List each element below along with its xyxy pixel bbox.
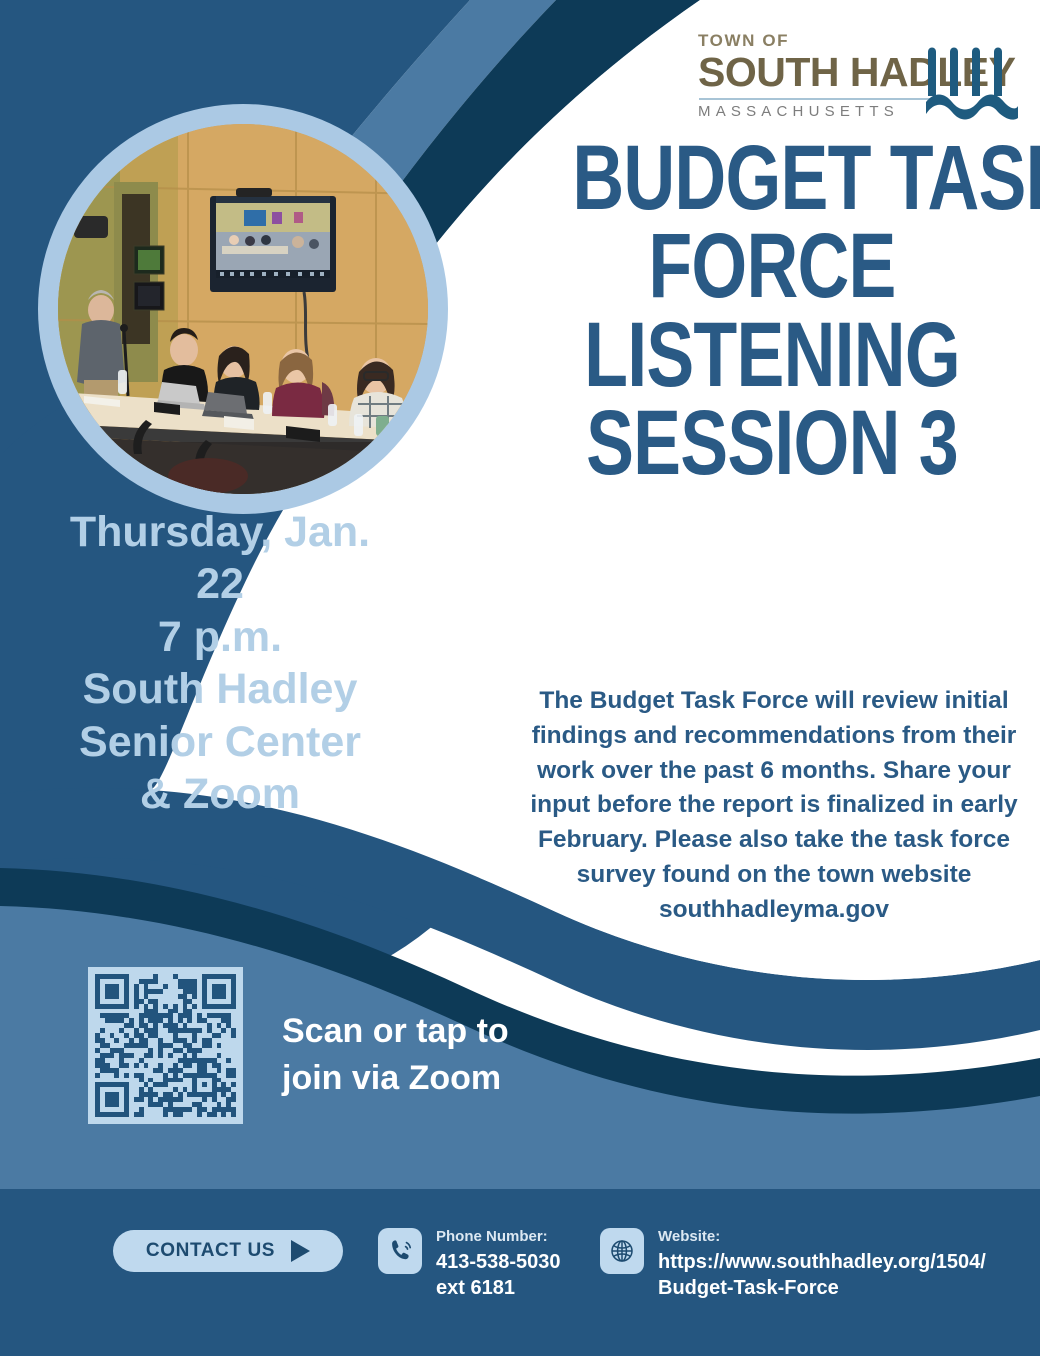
page-title-line-2: FORCE — [572, 222, 971, 310]
logo-divider — [699, 98, 935, 100]
website-label: Website: — [658, 1228, 986, 1246]
phone-number-line-1: 413-538-5030 — [436, 1249, 561, 1275]
website-info-text: Website: https://www.southhadley.org/150… — [658, 1228, 986, 1301]
waterfall-wave-icon — [926, 44, 1018, 122]
contact-us-button[interactable]: CONTACT US — [113, 1230, 343, 1272]
event-date-line-2: 22 — [20, 558, 420, 610]
event-details: Thursday, Jan. 22 7 p.m. South Hadley Se… — [20, 506, 420, 821]
page-title: BUDGET TASK FORCE LISTENING SESSION 3 — [572, 134, 971, 487]
qr-instruction-text: Scan or tap to join via Zoom — [282, 1008, 572, 1102]
event-date-line-1: Thursday, Jan. — [20, 506, 420, 558]
qr-code-icon[interactable] — [88, 967, 243, 1124]
qr-instruction-line-1: Scan or tap to — [282, 1008, 572, 1055]
meeting-photo — [58, 124, 428, 494]
description-text: The Budget Task Force will review initia… — [518, 684, 1030, 927]
town-logo: TOWN OF SOUTH HADLEY MASSACHUSETTS — [698, 32, 1018, 124]
website-url-line-1: https://www.southhadley.org/1504/ — [658, 1249, 986, 1275]
event-location-line-3: & Zoom — [20, 768, 420, 820]
globe-icon — [600, 1228, 644, 1274]
flyer-poster: TOWN OF SOUTH HADLEY MASSACHUSETTS BUDGE… — [0, 0, 1040, 1356]
qr-instruction-line-2: join via Zoom — [282, 1055, 572, 1102]
event-time: 7 p.m. — [20, 611, 420, 663]
website-url-line-2: Budget-Task-Force — [658, 1275, 986, 1301]
meeting-photo-illustration — [58, 124, 428, 494]
play-arrow-icon — [291, 1240, 310, 1262]
phone-info-text: Phone Number: 413-538-5030 ext 6181 — [436, 1228, 561, 1301]
phone-icon — [378, 1228, 422, 1274]
page-title-line-4: SESSION 3 — [572, 399, 971, 487]
qr-code-matrix[interactable] — [95, 974, 236, 1117]
website-info-block[interactable]: Website: https://www.southhadley.org/150… — [600, 1228, 986, 1301]
page-title-line-3: LISTENING — [572, 311, 971, 399]
page-title-line-1: BUDGET TASK — [572, 134, 971, 222]
phone-info-block[interactable]: Phone Number: 413-538-5030 ext 6181 — [378, 1228, 561, 1301]
phone-label: Phone Number: — [436, 1228, 561, 1246]
contact-us-label: CONTACT US — [146, 1240, 275, 1262]
event-location-line-2: Senior Center — [20, 716, 420, 768]
phone-number-line-2: ext 6181 — [436, 1275, 561, 1301]
event-location-line-1: South Hadley — [20, 663, 420, 715]
